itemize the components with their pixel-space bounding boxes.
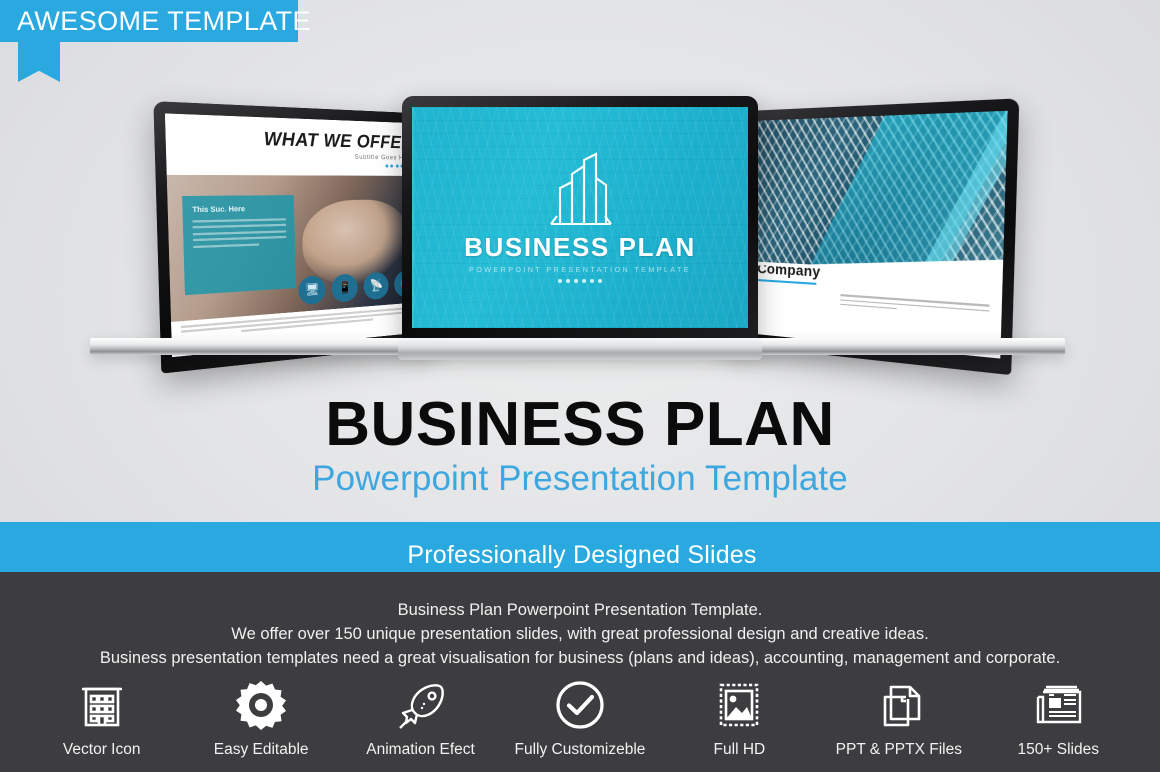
- feature-label: Full HD: [666, 741, 812, 759]
- photo-stamp-icon: [666, 676, 812, 734]
- feature-label: Fully Customizeble: [507, 741, 653, 759]
- dot: [582, 279, 586, 283]
- dot: [395, 165, 398, 168]
- slide-text-panel: This Suc. Here: [182, 195, 296, 295]
- feature-full-hd: Full HD: [666, 676, 812, 759]
- feature-label: 150+ Slides: [985, 741, 1131, 759]
- awesome-template-ribbon: AWESOME TEMPLATE: [0, 0, 298, 42]
- check-circle-icon: [507, 676, 653, 734]
- description-line-3: Business presentation templates need a g…: [0, 646, 1160, 670]
- laptop-mockup-group: WHAT WE OFFER Subtitle Goes Here This Su…: [0, 86, 1160, 376]
- laptop-screen: ur Company: [731, 111, 1007, 359]
- slide-our-company: ur Company: [731, 111, 1007, 359]
- laptop-mockup-center: BUSINESS PLAN POWERPOINT PRESENTATION TE…: [402, 96, 758, 344]
- feature-vector-icon: Vector Icon: [29, 676, 175, 759]
- dot: [385, 164, 388, 167]
- dot: [574, 279, 578, 283]
- dot: [590, 279, 594, 283]
- page-title: BUSINESS PLAN: [0, 394, 1160, 456]
- panel-title: This Suc. Here: [192, 205, 285, 214]
- laptop-bezel: WHAT WE OFFER Subtitle Goes Here This Su…: [153, 101, 437, 374]
- feature-ppt-files: PPT & PPTX Files: [826, 676, 972, 759]
- laptop-screen: BUSINESS PLAN POWERPOINT PRESENTATION TE…: [412, 107, 748, 328]
- poster-canvas: AWESOME TEMPLATE WHAT WE OFFER Subtitle …: [0, 0, 1160, 772]
- slides-icon: [985, 676, 1131, 734]
- dot: [598, 279, 602, 283]
- feature-label: Vector Icon: [29, 741, 175, 759]
- description-block: Business Plan Powerpoint Presentation Te…: [0, 598, 1160, 670]
- ribbon-tail-shape: [18, 42, 60, 82]
- mobile-icon: 📱: [332, 273, 359, 302]
- text-line: [193, 218, 286, 222]
- rocket-icon: [348, 676, 494, 734]
- slide-subtitle: POWERPOINT PRESENTATION TEMPLATE: [469, 265, 691, 274]
- broadcast-icon: 📡: [363, 271, 389, 300]
- text-line: [840, 303, 897, 309]
- feature-label: PPT & PPTX Files: [826, 741, 972, 759]
- laptop-mockup-right: ur Company: [723, 98, 1019, 375]
- handshake-photo: This Suc. Here 🖥 📱 📡: [167, 175, 428, 322]
- slide-title: WHAT WE OFFER: [180, 126, 413, 154]
- text-line: [193, 230, 286, 235]
- laptop-bezel: BUSINESS PLAN POWERPOINT PRESENTATION TE…: [402, 96, 758, 344]
- skyscraper-logo-icon: [537, 152, 623, 231]
- slide-header: WHAT WE OFFER Subtitle Goes Here: [165, 113, 425, 171]
- slide-title: ur Company: [740, 259, 990, 291]
- feature-slides-count: 150+ Slides: [985, 676, 1131, 759]
- dot: [566, 279, 570, 283]
- dot: [558, 279, 562, 283]
- laptop-base-notch: [398, 338, 762, 360]
- feature-label: Easy Editable: [188, 741, 334, 759]
- dot: [390, 164, 393, 167]
- text-line: [193, 243, 259, 248]
- feature-label: Animation Efect: [348, 741, 494, 759]
- slide-title: BUSINESS PLAN: [464, 234, 696, 260]
- laptop-bezel: ur Company: [723, 98, 1019, 375]
- page-subtitle: Powerpoint Presentation Template: [0, 460, 1160, 499]
- text-line: [193, 236, 286, 241]
- feature-fully-customizable: Fully Customizeble: [507, 676, 653, 759]
- documents-icon: [826, 676, 972, 734]
- description-line-2: We offer over 150 unique presentation sl…: [0, 622, 1160, 646]
- gear-icon: [188, 676, 334, 734]
- laptop-mockup-left: WHAT WE OFFER Subtitle Goes Here This Su…: [153, 101, 437, 374]
- building-icon: [29, 676, 175, 734]
- slide-icon-circles: 🖥 📱 📡 🌐: [298, 270, 418, 305]
- band-label: Professionally Designed Slides: [407, 541, 756, 570]
- text-line: [193, 224, 286, 229]
- footer-section: Business Plan Powerpoint Presentation Te…: [0, 572, 1160, 772]
- feature-easy-editable: Easy Editable: [188, 676, 334, 759]
- slide-what-we-offer: WHAT WE OFFER Subtitle Goes Here This Su…: [165, 113, 429, 357]
- slide-subtitle: Subtitle Goes Here: [181, 152, 414, 162]
- laptop-screen: WHAT WE OFFER Subtitle Goes Here This Su…: [165, 113, 429, 357]
- ribbon-label: AWESOME TEMPLATE: [0, 6, 311, 37]
- feature-list: Vector Icon Easy Editable: [0, 676, 1160, 759]
- slide-dot-row: [181, 162, 413, 168]
- feature-animation-effect: Animation Efect: [348, 676, 494, 759]
- monitor-icon: 🖥: [298, 275, 326, 305]
- skyscraper-photo: [733, 111, 1007, 275]
- slide-dot-row: [558, 279, 602, 283]
- description-line-1: Business Plan Powerpoint Presentation Te…: [0, 598, 1160, 622]
- slide-business-plan-cover: BUSINESS PLAN POWERPOINT PRESENTATION TE…: [412, 107, 748, 328]
- slide-body-text: [740, 287, 990, 316]
